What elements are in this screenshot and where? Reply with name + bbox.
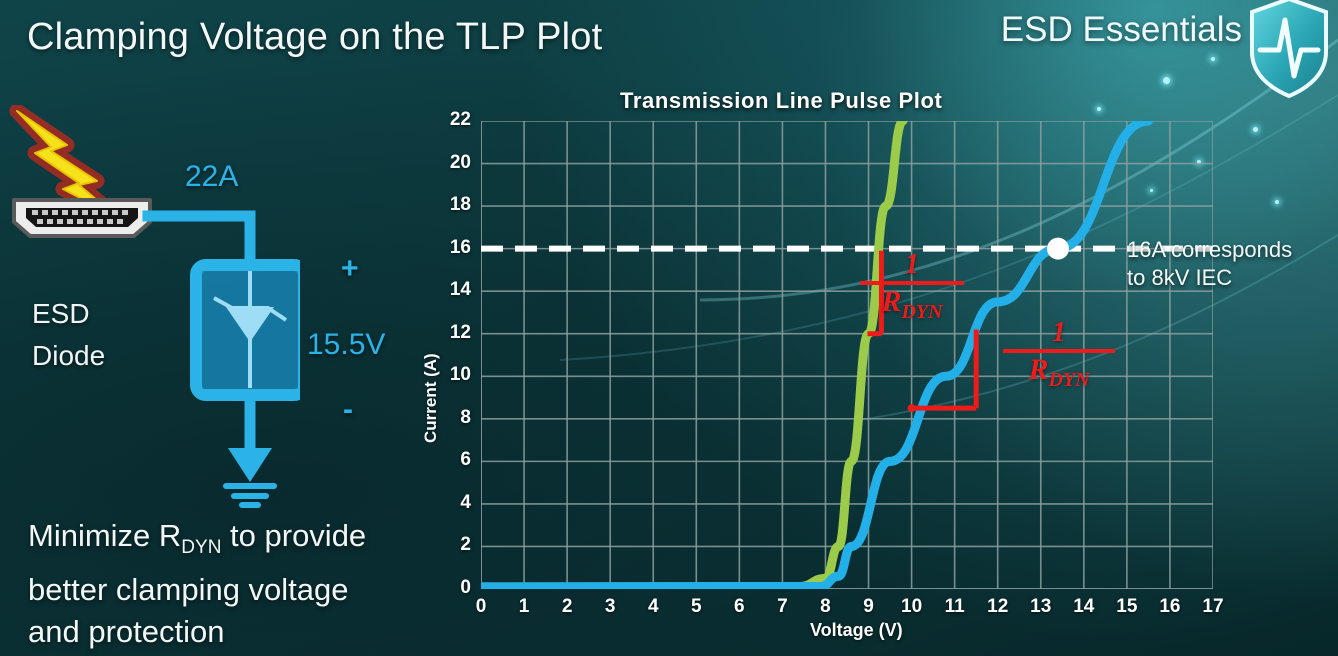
esd-protection-diagram: 22A ESD Diode 15.5V + - (0, 130, 420, 510)
x-axis-tick-label: 12 (978, 596, 1018, 618)
polarity-minus-label: - (343, 393, 353, 427)
slope-fraction-shallow: 1 RDYN (1003, 320, 1115, 396)
y-axis-tick-label: 6 (431, 449, 471, 471)
x-axis-tick-label: 6 (719, 596, 759, 618)
x-axis-tick-label: 1 (504, 596, 544, 618)
clamping-note-line2: to 8kV IEC (1127, 264, 1232, 292)
tlp-chart: Transmission Line Pulse Plot Current (A)… (415, 88, 1335, 656)
fraction-bar (860, 281, 964, 285)
circuit-wiring (140, 190, 300, 510)
clamping-note-line1: 16A corresponds (1127, 236, 1292, 264)
hdmi-connector-icon (8, 194, 156, 242)
y-axis-tick-label: 12 (431, 322, 471, 344)
shield-pulse-icon (1246, 0, 1332, 100)
chart-title: Transmission Line Pulse Plot (620, 88, 942, 114)
y-axis-tick-label: 22 (431, 109, 471, 131)
x-axis-tick-label: 15 (1107, 596, 1147, 618)
slope-denominator: RDYN (860, 286, 964, 328)
x-axis-tick-label: 9 (849, 596, 889, 618)
y-axis-tick-label: 8 (431, 407, 471, 429)
x-axis-tick-label: 10 (892, 596, 932, 618)
x-axis-tick-label: 3 (590, 596, 630, 618)
x-axis-title: Voltage (V) (810, 620, 903, 641)
summary-line-1-sub: DYN (181, 537, 221, 558)
y-axis-tick-label: 2 (431, 534, 471, 556)
polarity-plus-label: + (341, 252, 359, 286)
current-label: 22A (185, 160, 238, 194)
slope-denominator-main: R (881, 285, 901, 318)
slope-numerator: 1 (1003, 320, 1115, 346)
summary-line-2: better clamping voltage (28, 569, 448, 611)
device-label-line1: ESD (32, 298, 90, 330)
x-axis-tick-label: 2 (547, 596, 587, 618)
slide-canvas: Clamping Voltage on the TLP Plot ESD Ess… (0, 0, 1338, 656)
x-axis-tick-label: 11 (935, 596, 975, 618)
summary-text: Minimize RDYN to provide better clamping… (28, 515, 448, 653)
sparkle-icon (1211, 57, 1215, 61)
y-axis-tick-label: 18 (431, 194, 471, 216)
clamping-point-marker (1047, 238, 1069, 260)
summary-line-1: Minimize RDYN to provide (28, 515, 448, 569)
x-axis-tick-label: 8 (805, 596, 845, 618)
x-axis-tick-label: 17 (1193, 596, 1233, 618)
x-axis-tick-label: 7 (762, 596, 802, 618)
slope-denominator-main: R (1028, 353, 1048, 386)
y-axis-tick-label: 14 (431, 279, 471, 301)
voltage-label: 15.5V (307, 328, 385, 362)
slope-denominator-sub: DYN (901, 301, 942, 323)
x-axis-tick-label: 5 (676, 596, 716, 618)
summary-line-1-post: to provide (221, 518, 366, 553)
y-axis-tick-label: 16 (431, 237, 471, 259)
brand-name: ESD Essentials (1001, 10, 1242, 50)
slope-denominator: RDYN (1003, 354, 1115, 396)
y-axis-tick-label: 4 (431, 492, 471, 514)
x-axis-tick-label: 16 (1150, 596, 1190, 618)
y-axis-tick-label: 10 (431, 364, 471, 386)
page-title: Clamping Voltage on the TLP Plot (27, 16, 602, 59)
slope-marker-origin-dot (908, 404, 916, 412)
y-axis-tick-label: 20 (431, 152, 471, 174)
x-axis-tick-label: 4 (633, 596, 673, 618)
summary-line-3: and protection (28, 611, 448, 653)
slope-numerator: 1 (860, 252, 964, 278)
x-axis-tick-label: 0 (461, 596, 501, 618)
slope-denominator-sub: DYN (1048, 369, 1089, 391)
device-label-line2: Diode (32, 340, 105, 372)
sparkle-icon (1163, 77, 1170, 84)
series-line-0 (481, 121, 903, 587)
x-axis-tick-label: 14 (1064, 596, 1104, 618)
summary-line-1-pre: Minimize R (28, 518, 181, 553)
fraction-bar (1003, 349, 1115, 353)
slope-fraction-steep: 1 RDYN (860, 252, 964, 328)
x-axis-tick-label: 13 (1021, 596, 1061, 618)
